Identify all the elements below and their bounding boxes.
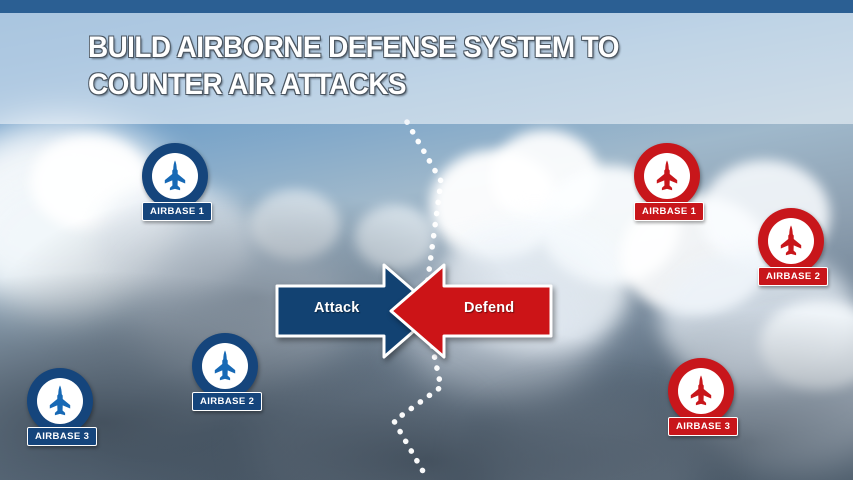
airbase-marker-blue-2[interactable]: AIRBASE 2 <box>192 333 258 411</box>
marker-inner-circle <box>768 218 814 264</box>
airbase-label: AIRBASE 1 <box>142 202 212 221</box>
airbase-marker-blue-1[interactable]: AIRBASE 1 <box>142 143 208 221</box>
marker-inner-circle <box>37 378 83 424</box>
marker-disc <box>758 208 824 274</box>
fighter-jet-icon <box>43 384 77 418</box>
marker-disc <box>634 143 700 209</box>
marker-disc <box>142 143 208 209</box>
marker-inner-circle <box>202 343 248 389</box>
fighter-jet-icon <box>684 374 718 408</box>
marker-inner-circle <box>678 368 724 414</box>
top-accent-strip <box>0 0 853 13</box>
airbase-marker-blue-3[interactable]: AIRBASE 3 <box>27 368 93 446</box>
page-title-line-1: BUILD AIRBORNE DEFENSE SYSTEM TO <box>88 30 739 67</box>
slide-canvas: Attack Defend AIRBASE 1 AIRBASE 2 <box>0 0 853 480</box>
marker-inner-circle <box>152 153 198 199</box>
fighter-jet-icon <box>774 224 808 258</box>
fighter-jet-icon <box>650 159 684 193</box>
marker-disc <box>27 368 93 434</box>
page-title: BUILD AIRBORNE DEFENSE SYSTEM TO COUNTER… <box>88 30 739 104</box>
marker-inner-circle <box>644 153 690 199</box>
airbase-label: AIRBASE 1 <box>634 202 704 221</box>
page-title-line-2: COUNTER AIR ATTACKS <box>88 67 739 104</box>
airbase-marker-red-1[interactable]: AIRBASE 1 <box>634 143 700 221</box>
attack-arrow-label: Attack <box>314 300 360 316</box>
fighter-jet-icon <box>208 349 242 383</box>
airbase-marker-red-3[interactable]: AIRBASE 3 <box>668 358 734 436</box>
airbase-label: AIRBASE 2 <box>758 267 828 286</box>
defend-arrow-label: Defend <box>464 300 514 316</box>
airbase-label: AIRBASE 3 <box>668 417 738 436</box>
airbase-label: AIRBASE 3 <box>27 427 97 446</box>
marker-disc <box>668 358 734 424</box>
fighter-jet-icon <box>158 159 192 193</box>
airbase-label: AIRBASE 2 <box>192 392 262 411</box>
airbase-marker-red-2[interactable]: AIRBASE 2 <box>758 208 824 286</box>
marker-disc <box>192 333 258 399</box>
